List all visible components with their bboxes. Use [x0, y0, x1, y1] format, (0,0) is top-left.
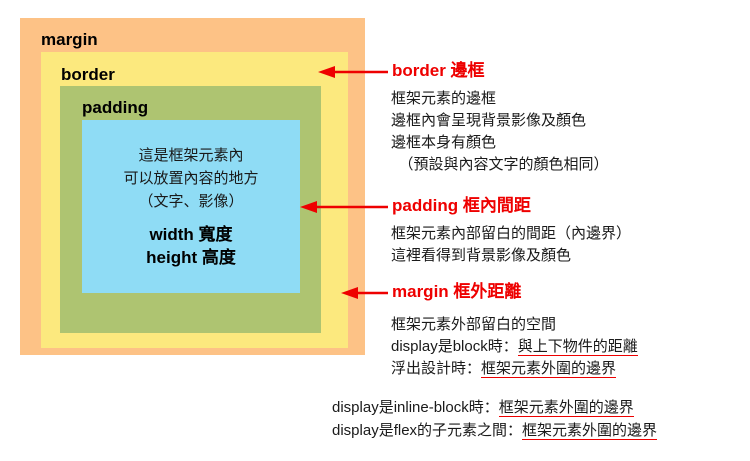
padding-box-label: padding — [82, 99, 148, 116]
footer-line-2: display是flex的子元素之間：框架元素外圍的邊界 — [332, 419, 657, 442]
annotation-title-border: border 邊框 — [392, 62, 485, 79]
annotation-margin-line-3: 浮出設計時：框架元素外圍的邊界 — [391, 358, 638, 380]
annotation-title-padding: padding 框內間距 — [392, 197, 531, 214]
annotation-title-margin: margin 框外距離 — [392, 283, 521, 300]
arrow-to-border-icon — [318, 66, 388, 78]
padding-box: padding 這是框架元素內 可以放置內容的地方 （文字、影像） width … — [60, 86, 321, 333]
box-model-diagram: margin border padding 這是框架元素內 可以放置內容的地方 … — [20, 18, 365, 355]
content-line-2: 可以放置內容的地方 — [123, 167, 258, 190]
annotation-border-line-1: 框架元素的邊框 — [391, 88, 609, 110]
annotation-margin-line-3-underlined: 框架元素外圍的邊界 — [481, 360, 616, 378]
arrow-to-padding-icon — [300, 201, 388, 213]
footer-line-1-underlined: 框架元素外圍的邊界 — [499, 399, 634, 417]
border-box: border padding 這是框架元素內 可以放置內容的地方 （文字、影像）… — [41, 52, 348, 348]
content-line-1: 這是框架元素內 — [138, 144, 243, 167]
footer-line-2-underlined: 框架元素外圍的邊界 — [522, 422, 657, 440]
content-box: 這是框架元素內 可以放置內容的地方 （文字、影像） width 寬度 heigh… — [82, 120, 300, 293]
annotation-border-line-3: 邊框本身有顏色 — [391, 132, 609, 154]
annotation-margin-line-1: 框架元素外部留白的空間 — [391, 314, 638, 336]
margin-box-label: margin — [41, 31, 98, 48]
annotation-margin-line-2-underlined: 與上下物件的距離 — [518, 338, 638, 356]
annotation-border-line-4: （預設與內容文字的顏色相同） — [391, 154, 609, 176]
annotation-padding-line-1: 框架元素內部留白的間距（內邊界） — [391, 223, 631, 245]
border-box-label: border — [61, 66, 115, 83]
footer-line-2-prefix: display是flex的子元素之間： — [332, 422, 522, 439]
footer-line-1-prefix: display是inline-block時： — [332, 399, 499, 416]
footer-notes: display是inline-block時：框架元素外圍的邊界 display是… — [332, 396, 657, 442]
annotation-body-border: 框架元素的邊框 邊框內會呈現背景影像及顏色 邊框本身有顏色 （預設與內容文字的顏… — [391, 88, 609, 176]
arrow-to-margin-icon — [341, 287, 388, 299]
content-height-label: height 高度 — [146, 246, 236, 269]
annotation-margin-line-2: display是block時：與上下物件的距離 — [391, 336, 638, 358]
annotation-border-line-2: 邊框內會呈現背景影像及顏色 — [391, 110, 609, 132]
annotation-margin-line-2-prefix: display是block時： — [391, 338, 518, 355]
footer-line-1: display是inline-block時：框架元素外圍的邊界 — [332, 396, 657, 419]
annotation-body-padding: 框架元素內部留白的間距（內邊界） 這裡看得到背景影像及顏色 — [391, 223, 631, 267]
annotation-body-margin: 框架元素外部留白的空間 display是block時：與上下物件的距離 浮出設計… — [391, 314, 638, 380]
annotation-margin-line-3-prefix: 浮出設計時： — [391, 360, 481, 377]
content-width-label: width 寬度 — [149, 223, 232, 246]
content-line-3: （文字、影像） — [138, 190, 243, 213]
annotation-padding-line-2: 這裡看得到背景影像及顏色 — [391, 245, 631, 267]
